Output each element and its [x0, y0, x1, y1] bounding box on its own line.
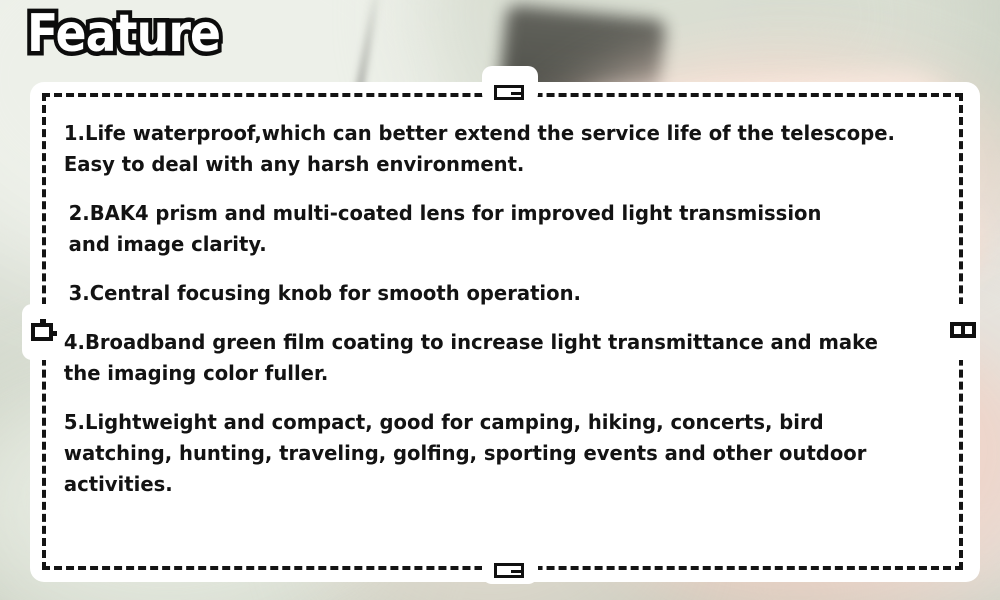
resize-handle-bottom-center-icon[interactable] [494, 563, 524, 578]
feature-line: 5.Lightweight and compact, good for camp… [62, 407, 904, 438]
resize-handle-left-middle-icon[interactable] [31, 323, 53, 341]
feature-line: Easy to deal with any harsh environment. [62, 149, 904, 180]
feature-list: 1.Life waterproof,which can better exten… [62, 110, 944, 550]
slide-canvas: 40x22 2000M/20000M Feature 1.Life waterp… [0, 0, 1000, 600]
page-title: Feature [27, 8, 220, 60]
feature-line: 3.Central focusing knob for smooth opera… [62, 278, 904, 309]
list-item: 1.Life waterproof,which can better exten… [62, 118, 944, 180]
feature-line: 4.Broadband green film coating to increa… [62, 327, 904, 358]
list-item: 3.Central focusing knob for smooth opera… [62, 278, 944, 309]
feature-line: and image clarity. [62, 229, 904, 260]
list-item: 4.Broadband green film coating to increa… [62, 327, 944, 389]
feature-line: the imaging color fuller. [62, 358, 904, 389]
resize-handle-right-middle-icon[interactable] [950, 322, 976, 338]
feature-line: activities. [62, 469, 904, 500]
feature-line: 1.Life waterproof,which can better exten… [62, 118, 904, 149]
resize-handle-top-center-icon[interactable] [494, 85, 524, 100]
feature-line: 2.BAK4 prism and multi-coated lens for i… [62, 198, 904, 229]
list-item: 2.BAK4 prism and multi-coated lens for i… [62, 198, 944, 260]
feature-line: watching, hunting, traveling, golfing, s… [62, 438, 904, 469]
list-item: 5.Lightweight and compact, good for camp… [62, 407, 944, 500]
